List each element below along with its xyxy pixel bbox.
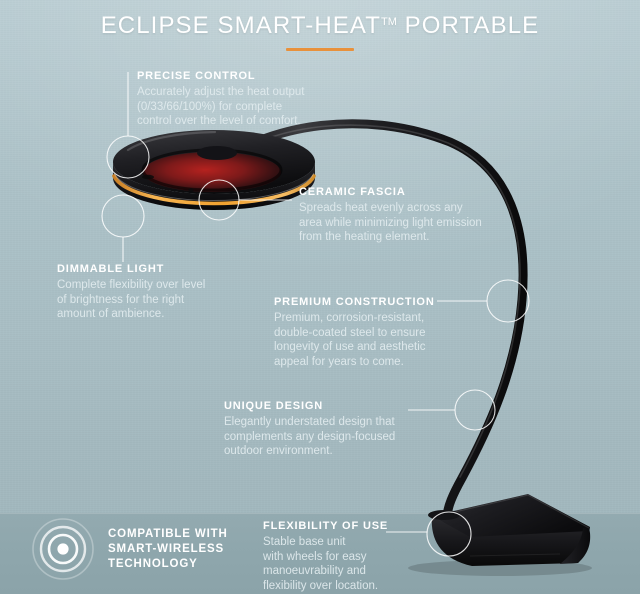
callout-body-line: Accurately adjust the heat output bbox=[137, 85, 305, 100]
badge-line-1: COMPATIBLE WITH bbox=[108, 527, 228, 542]
callout-layer: PRECISE CONTROL Accurately adjust the he… bbox=[0, 0, 640, 594]
callout-heading: UNIQUE DESIGN bbox=[224, 400, 395, 412]
marker-flexibility-of-use bbox=[427, 512, 471, 556]
callout-heading: PRECISE CONTROL bbox=[137, 70, 305, 82]
marker-premium-construction bbox=[487, 280, 529, 322]
callout-unique-design: UNIQUE DESIGN Elegantly understated desi… bbox=[224, 400, 395, 459]
infographic-canvas: ECLIPSE SMART-HEATTM PORTABLE bbox=[0, 0, 640, 594]
wireless-signal-icon bbox=[32, 518, 94, 580]
callout-body-line: longevity of use and aesthetic bbox=[274, 340, 435, 355]
callout-body-line: area while minimizing light emission bbox=[299, 216, 482, 231]
callout-body-line: control over the level of comfort. bbox=[137, 114, 305, 129]
callout-body: Elegantly understated design that comple… bbox=[224, 415, 395, 459]
trademark-symbol: TM bbox=[381, 16, 397, 28]
badge-line-2: SMART-WIRELESS bbox=[108, 542, 228, 557]
callout-body: Complete flexibility over level of brigh… bbox=[57, 278, 205, 322]
page-title-tail: PORTABLE bbox=[397, 12, 539, 39]
callout-heading: PREMIUM CONSTRUCTION bbox=[274, 296, 435, 308]
callout-body: Premium, corrosion-resistant, double-coa… bbox=[274, 311, 435, 369]
callout-heading: FLEXIBILITY OF USE bbox=[263, 520, 388, 532]
callout-dimmable-light: DIMMABLE LIGHT Complete flexibility over… bbox=[57, 263, 205, 322]
marker-unique-design bbox=[455, 390, 495, 430]
callout-body-line: amount of ambience. bbox=[57, 307, 205, 322]
callout-flexibility-of-use: FLEXIBILITY OF USE Stable base unit with… bbox=[263, 520, 388, 593]
marker-ceramic-fascia bbox=[199, 180, 239, 220]
callout-body-line: with wheels for easy bbox=[263, 550, 388, 565]
callout-ceramic-fascia: CERAMIC FASCIA Spreads heat evenly acros… bbox=[299, 186, 482, 245]
title-accent-rule bbox=[286, 48, 354, 51]
callout-body-line: Premium, corrosion-resistant, bbox=[274, 311, 435, 326]
badge-line-3: TECHNOLOGY bbox=[108, 557, 228, 572]
callout-premium-construction: PREMIUM CONSTRUCTION Premium, corrosion-… bbox=[274, 296, 435, 369]
badge-text: COMPATIBLE WITH SMART-WIRELESS TECHNOLOG… bbox=[108, 527, 228, 572]
callout-body-line: flexibility over location. bbox=[263, 579, 388, 594]
callout-body-line: double-coated steel to ensure bbox=[274, 326, 435, 341]
callout-heading: CERAMIC FASCIA bbox=[299, 186, 482, 198]
callout-body-line: (0/33/66/100%) for complete bbox=[137, 100, 305, 115]
callout-body-line: outdoor environment. bbox=[224, 444, 395, 459]
smart-wireless-badge: COMPATIBLE WITH SMART-WIRELESS TECHNOLOG… bbox=[32, 518, 228, 580]
callout-precise-control: PRECISE CONTROL Accurately adjust the he… bbox=[137, 70, 305, 129]
callout-body-line: Complete flexibility over level bbox=[57, 278, 205, 293]
callout-body: Accurately adjust the heat output (0/33/… bbox=[137, 85, 305, 129]
callout-body: Spreads heat evenly across any area whil… bbox=[299, 201, 482, 245]
callout-body-line: of brightness for the right bbox=[57, 293, 205, 308]
callout-body: Stable base unit with wheels for easy ma… bbox=[263, 535, 388, 593]
marker-precise-control bbox=[107, 136, 149, 178]
callout-heading: DIMMABLE LIGHT bbox=[57, 263, 205, 275]
callout-body-line: Stable base unit bbox=[263, 535, 388, 550]
callout-body-line: appeal for years to come. bbox=[274, 355, 435, 370]
page-title-main: ECLIPSE SMART-HEAT bbox=[101, 12, 381, 39]
callout-body-line: manoeuvrability and bbox=[263, 564, 388, 579]
callout-body-line: Spreads heat evenly across any bbox=[299, 201, 482, 216]
marker-dimmable-light bbox=[102, 195, 144, 237]
callout-body-line: from the heating element. bbox=[299, 230, 482, 245]
page-title: ECLIPSE SMART-HEATTM PORTABLE bbox=[0, 12, 640, 40]
callout-body-line: complements any design-focused bbox=[224, 430, 395, 445]
callout-body-line: Elegantly understated design that bbox=[224, 415, 395, 430]
